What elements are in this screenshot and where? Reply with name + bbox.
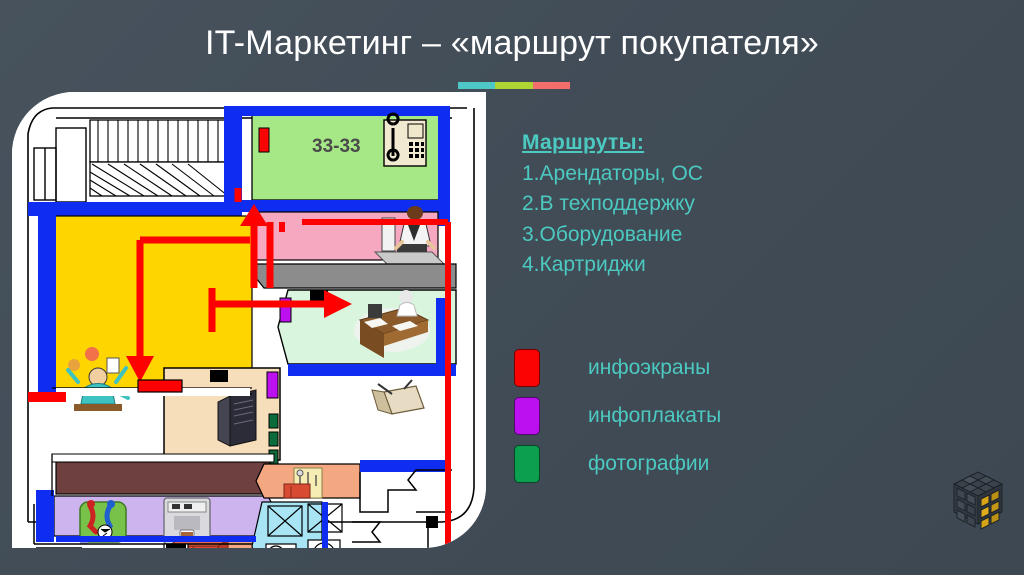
legend-swatch-infoposters [514, 397, 540, 435]
legend-label-infoposters: инфоплакаты [588, 404, 721, 428]
legend-label-infoscreens: инфоэкраны [588, 356, 710, 380]
legend-swatch-photos [514, 445, 540, 483]
legend-swatch-infoscreens [514, 349, 540, 387]
route-item-3: 3.Оборудование [522, 220, 703, 251]
slide-canvas: IT-Маркетинг – «маршрут покупателя» [0, 0, 1024, 575]
legend-row-infoscreens: инфоэкраны [514, 344, 721, 392]
foosball-icon [80, 500, 126, 542]
rule-segment-2 [495, 82, 532, 89]
rubik-cube-logo [944, 462, 1012, 534]
telephone-icon [384, 114, 426, 166]
routes-heading: Маршруты: [522, 128, 703, 159]
rule-segment-1 [458, 82, 495, 89]
legend: инфоэкраны инфоплакаты фотографии [514, 344, 721, 488]
legend-row-infoposters: инфоплакаты [514, 392, 721, 440]
route-item-2: 2.В техподдержку [522, 189, 703, 220]
legend-label-photos: фотографии [588, 452, 709, 476]
route-item-1: 1.Арендаторы, ОС [522, 159, 703, 190]
room-number-label: 33-33 [312, 136, 361, 157]
routes-text-block: Маршруты: 1.Арендаторы, ОС 2.В техподдер… [522, 128, 703, 281]
floor-plan-image: 33-33 [12, 92, 486, 548]
rule-segment-3 [533, 82, 570, 89]
route-item-4: 4.Картриджи [522, 250, 703, 281]
title-underline-rule [458, 82, 570, 89]
legend-row-photos: фотографии [514, 440, 721, 488]
page-title: IT-Маркетинг – «маршрут покупателя» [0, 24, 1024, 63]
